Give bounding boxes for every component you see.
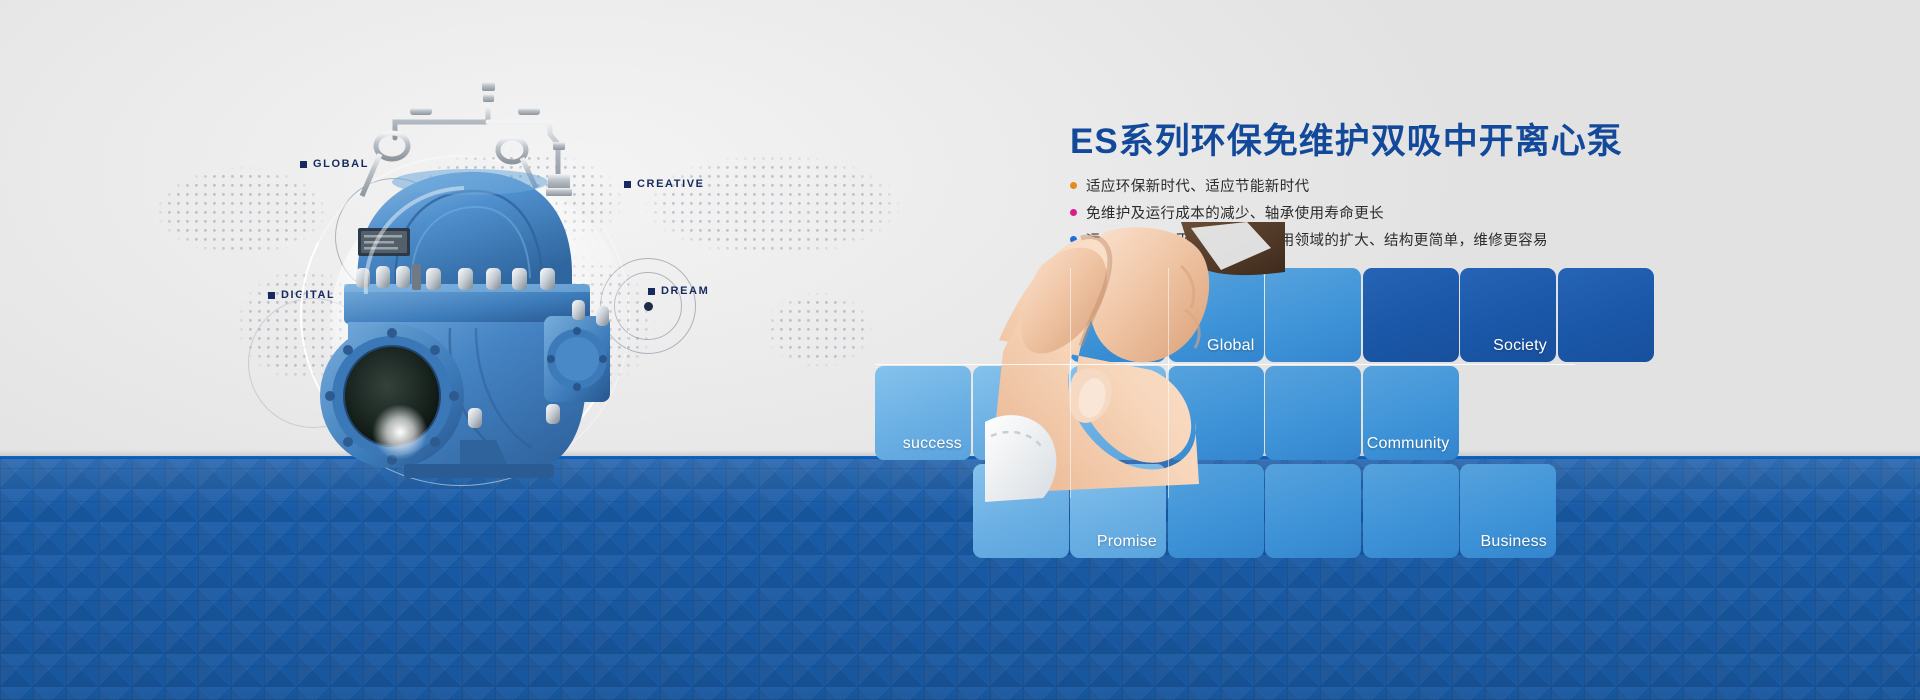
- grid-highlight-line-v: [1070, 268, 1071, 498]
- list-item: 适应环保新时代、适应节能新时代: [1070, 175, 1870, 196]
- handshake-photo: [985, 222, 1285, 502]
- tile-community: Community: [1363, 366, 1459, 460]
- square-bullet-icon: [268, 292, 275, 299]
- bullet-text: 免维护及运行成本的减少、轴承使用寿命更长: [1086, 202, 1384, 223]
- tile-blank: [1558, 268, 1654, 362]
- list-item: 免维护及运行成本的减少、轴承使用寿命更长: [1070, 202, 1870, 223]
- grid-highlight-line-h: [875, 364, 1575, 365]
- tile-society: Society: [1460, 268, 1556, 362]
- tile-label: success: [875, 435, 962, 453]
- banner-stage: GLOBAL CREATIVE DIGITAL DREAM: [0, 0, 1920, 700]
- bullet-text: 适应环保新时代、适应节能新时代: [1086, 175, 1310, 196]
- grid-cross-node: [1164, 360, 1173, 369]
- tile-blank: [1363, 464, 1459, 558]
- page-title: ES系列环保免维护双吸中开离心泵: [1070, 122, 1870, 162]
- tile-success: success: [875, 366, 971, 460]
- map-label-text: DREAM: [661, 285, 709, 297]
- grid-cross-node: [1066, 360, 1075, 369]
- tile-label: Community: [1363, 435, 1450, 453]
- tile-label: Business: [1460, 533, 1547, 551]
- tile-blank: [1363, 268, 1459, 362]
- grid-highlight-line-v: [1168, 268, 1169, 498]
- tile-label: Promise: [1070, 533, 1157, 551]
- pump-product-image: [300, 78, 660, 478]
- tile-business: Business: [1460, 464, 1556, 558]
- pump-sparkle: [372, 404, 428, 460]
- bullet-dot-icon: [1070, 209, 1077, 216]
- tile-label: Society: [1460, 337, 1547, 355]
- bullet-dot-icon: [1070, 182, 1077, 189]
